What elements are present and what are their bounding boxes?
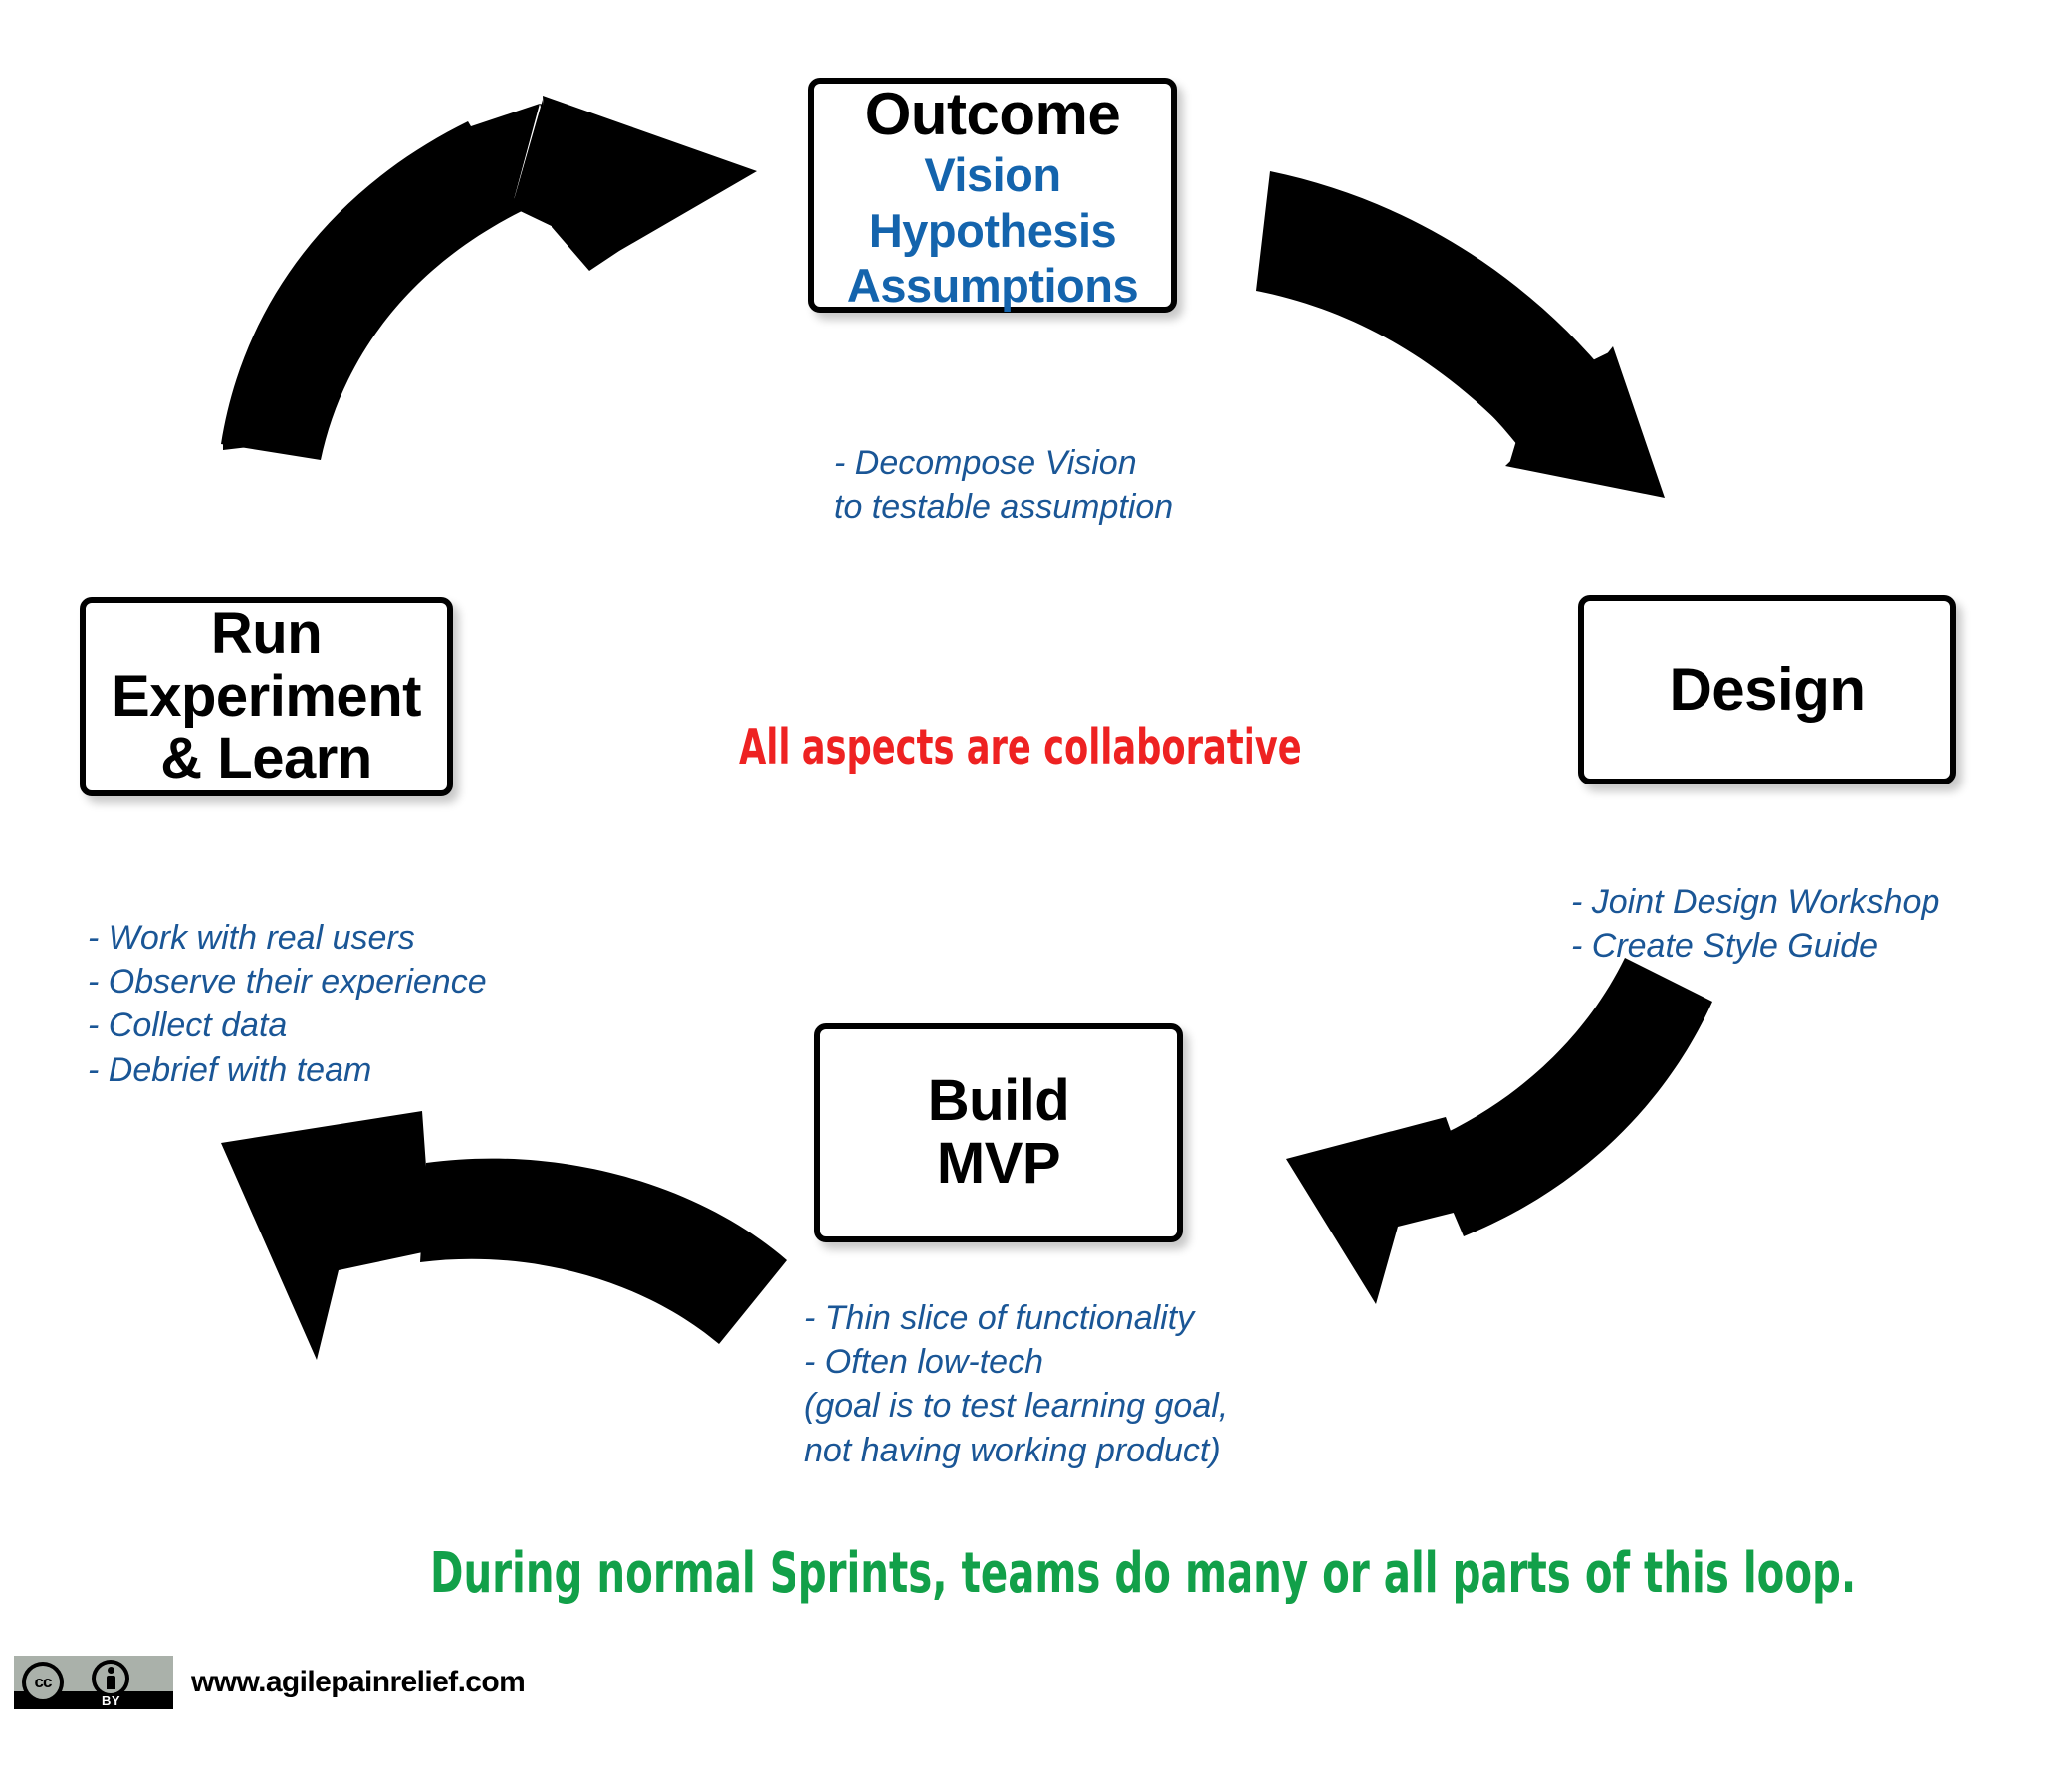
person-body-icon: [107, 1676, 115, 1689]
node-outcome-sub-assumptions: Assumptions: [847, 258, 1138, 313]
arrow-build-to-run-head-icon: [221, 1111, 432, 1360]
arrow-design-to-build-head-icon: [1286, 1117, 1477, 1304]
arrow-outcome-to-design-icon: [1258, 175, 1593, 450]
note-build-mvp: - Thin slice of functionality - Often lo…: [804, 1296, 1228, 1472]
node-run-title-line-3: & Learn: [160, 728, 371, 790]
node-outcome-sub-hypothesis: Hypothesis: [869, 203, 1116, 258]
node-build-title-line-2: MVP: [937, 1133, 1060, 1196]
arrow-outcome-to-design-body-icon: [1256, 171, 1615, 468]
arrow-run-to-outcome-icon: [223, 100, 737, 450]
arrow-outcome-to-design-point-icon: [1505, 346, 1665, 498]
note-run-experiment: - Work with real users - Observe their e…: [88, 916, 487, 1092]
arrow-outcome-to-design-head-icon: [1509, 350, 1653, 488]
note-design: - Joint Design Workshop - Create Style G…: [1571, 880, 1939, 968]
creative-commons-badge-icon[interactable]: cc BY: [14, 1656, 173, 1709]
node-outcome-title: Outcome: [865, 83, 1121, 147]
license-footer: cc BY www.agilepainrelief.com: [14, 1656, 525, 1709]
node-design-title: Design: [1669, 658, 1865, 723]
node-run-title-line-2: Experiment: [112, 666, 421, 729]
note-outcome: - Decompose Vision to testable assumptio…: [834, 441, 1173, 529]
arrow-design-to-build-body-icon: [1424, 958, 1712, 1236]
node-run-title-line-1: Run: [211, 603, 322, 666]
arrow-run-to-outcome-tail-icon: [221, 121, 522, 460]
node-outcome[interactable]: Outcome Vision Hypothesis Assumptions: [808, 78, 1177, 313]
bottom-caption: During normal Sprints, teams do many or …: [430, 1541, 1856, 1606]
center-caption: All aspects are collaborative: [739, 719, 1302, 776]
node-build-title-line-1: Build: [928, 1070, 1069, 1133]
cc-logo-icon: cc: [22, 1662, 64, 1703]
cc-logo-label: cc: [26, 1666, 60, 1699]
person-head-icon: [108, 1667, 114, 1674]
arrow-build-to-run-body-icon: [420, 1159, 787, 1344]
cc-person-glyph: [96, 1664, 125, 1693]
node-build-mvp[interactable]: Build MVP: [814, 1023, 1183, 1242]
node-design[interactable]: Design: [1578, 595, 1956, 784]
cc-by-label: BY: [102, 1693, 120, 1708]
cc-attribution-person-icon: [92, 1660, 129, 1697]
license-url[interactable]: www.agilepainrelief.com: [191, 1666, 525, 1699]
arrow-run-to-outcome-head-icon: [543, 96, 757, 271]
node-outcome-sub-vision: Vision: [924, 147, 1060, 202]
node-run-experiment[interactable]: Run Experiment & Learn: [80, 597, 453, 796]
diagram-canvas: Outcome Vision Hypothesis Assumptions - …: [0, 0, 2045, 1792]
